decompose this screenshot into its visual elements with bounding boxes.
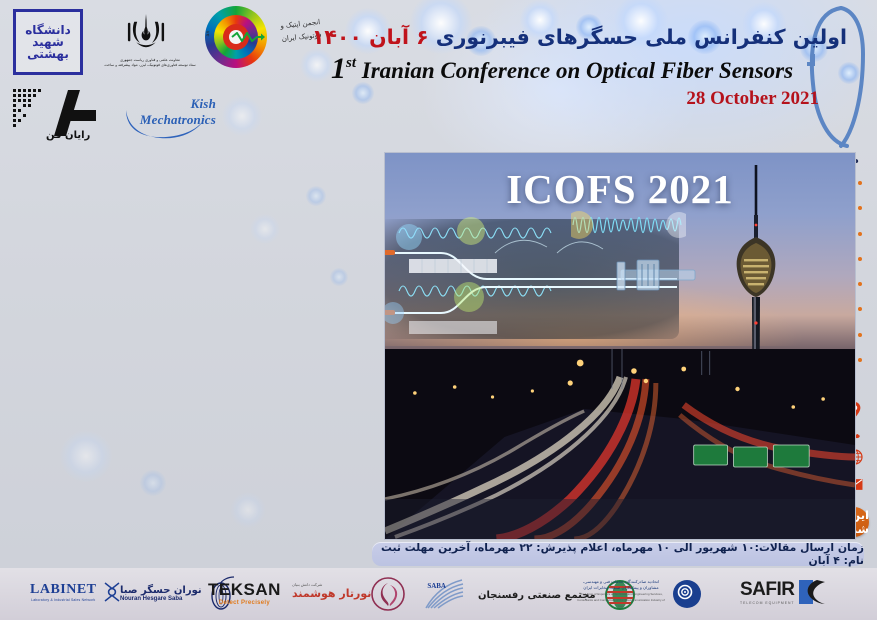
important-dates-bar: زمان ارسال مقالات:۱۰ شهریور الی ۱۰ مهرما… (372, 542, 864, 566)
sponsor-noortar: شرکت دانش بنیان نورتار هوشمند (292, 582, 371, 600)
bokeh-light (230, 492, 266, 528)
labinet-title: LABINET (30, 582, 97, 598)
sponsor-sanjesh-logo (370, 576, 406, 612)
bokeh-light (60, 430, 112, 482)
bullet-dot-icon (858, 206, 862, 210)
sponsor-strip: LABINET Laboratory & Industrial Sales Ne… (0, 568, 877, 620)
bullet-dot-icon (858, 181, 862, 185)
conference-title-block: اولین کنفرانس ملی حسگرهای فیبرنوری ۶ آبا… (327, 24, 847, 110)
conference-poster: دانشگاه شهید بهشتی معاونت علمی (0, 0, 877, 620)
opsi-arrow-icon (231, 32, 265, 42)
sponsor-union: اتحادیه صادرکنندگان خدمات فنی و مهندسی، … (575, 578, 703, 610)
bullet-dot-icon (858, 333, 862, 337)
date-persian: ۶ آبان ۱۴۰۰ (312, 25, 429, 49)
icofs-headline: ICOFS 2021 (385, 165, 855, 213)
saba-title: SABA (427, 582, 446, 590)
kish-mechatronics-logo: Kish Mechatronics (120, 92, 216, 140)
date-english: 28 October 2021 (327, 88, 847, 110)
safir-title: SAFIR (740, 579, 795, 601)
nouran-title-en: Nouran Hesgare Saba (120, 596, 182, 602)
bullet-dot-icon (858, 257, 862, 261)
shahid-beheshti-university-logo: دانشگاه شهید بهشتی (13, 9, 83, 75)
safir-mark-icon (799, 578, 825, 606)
sponsor-logos-top: دانشگاه شهید بهشتی معاونت علمی (0, 0, 340, 150)
teksan-subtitle: Detect Precisely (219, 600, 270, 606)
safir-subtitle: TELECOM EQUIPMENT (740, 601, 795, 605)
sponsor-saba: SABA (424, 578, 464, 610)
caliper-icon (611, 258, 701, 294)
bokeh-light (306, 186, 326, 206)
saba-swoosh-icon: SABA (424, 578, 464, 610)
interference-waveform-icon (571, 208, 686, 242)
ministry-logo-caption: معاونت علمی و فناوری ریاست جمهوری ستاد ت… (95, 58, 205, 68)
bullet-dot-icon (858, 358, 862, 362)
sbu-calligraphy: دانشگاه شهید بهشتی (20, 16, 76, 68)
kish-mechatronics-label: Kish Mechatronics (128, 96, 216, 128)
teksan-title: TEKSAN (208, 580, 281, 600)
rayan-fan-label: رایان فن (46, 130, 90, 141)
bullet-dot-icon (858, 282, 862, 286)
title-persian: اولین کنفرانس ملی حسگرهای فیبرنوری ۶ آبا… (327, 24, 847, 50)
bokeh-light (330, 268, 348, 286)
iran-national-emblem-icon (120, 12, 172, 56)
highway-light-trails (385, 349, 855, 539)
bullet-dot-icon (858, 307, 862, 311)
noortar-title: نورتار هوشمند (292, 587, 371, 600)
rayan-fan-logo: رایان فن (12, 88, 100, 144)
union-globe-icon (671, 578, 703, 610)
union-line3: The Union of Exporters of Technical and … (575, 591, 667, 609)
labinet-subtitle: Laboratory & Industrial Sales Network (31, 598, 95, 602)
sponsor-safir: SAFIR TELECOM EQUIPMENT (740, 578, 825, 606)
sanjesh-figure-icon (370, 576, 406, 612)
bokeh-light (140, 470, 166, 496)
sponsor-teksan: TEKSAN Detect Precisely (208, 580, 281, 606)
conference-hero-image: ICOFS 2021 (384, 152, 856, 540)
bokeh-light (250, 214, 280, 244)
sponsor-labinet: LABINET Laboratory & Industrial Sales Ne… (30, 580, 123, 604)
title-english: 1st Iranian Conference on Optical Fiber … (327, 52, 847, 86)
bullet-dot-icon (858, 232, 862, 236)
opsi-society-logo (205, 6, 267, 68)
nouran-title-fa: نوران حسگر صبا (120, 585, 202, 596)
